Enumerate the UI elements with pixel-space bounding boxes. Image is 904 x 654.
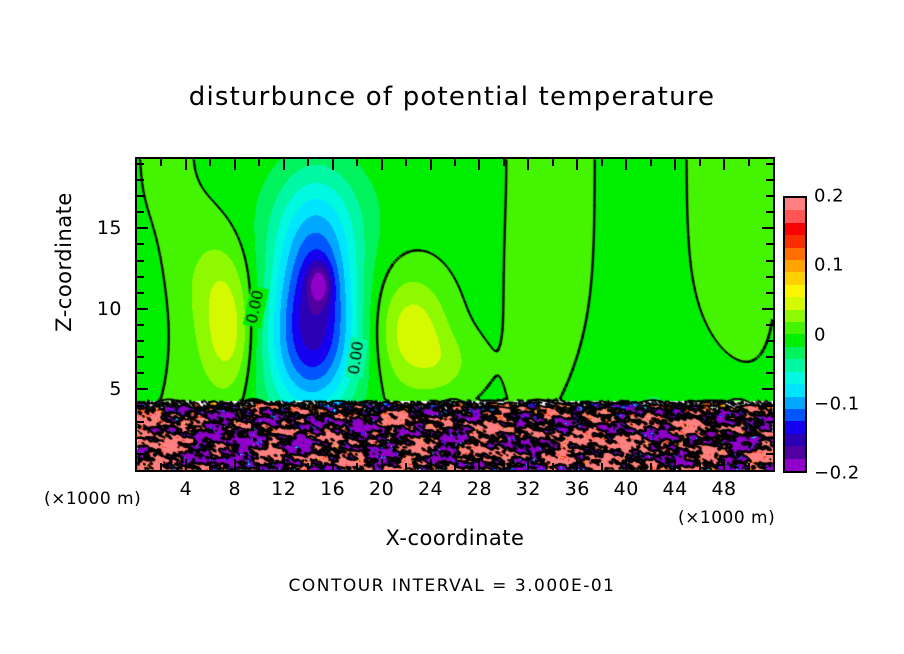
x-tick-top	[454, 159, 456, 166]
x-tick-label: 12	[271, 478, 296, 500]
colorbar-segment	[785, 409, 805, 421]
x-tick-top	[185, 159, 187, 170]
x-tick	[160, 463, 162, 470]
y-tick-right	[762, 227, 773, 229]
x-tick	[381, 459, 383, 470]
y-tick	[137, 308, 148, 310]
x-tick-label: 36	[565, 478, 590, 500]
colorbar-tick-label: 0	[814, 324, 826, 345]
colorbar-segment	[785, 334, 805, 346]
x-tick	[307, 463, 309, 470]
x-tick-label: 44	[663, 478, 688, 500]
y-tick-label: 15	[97, 217, 122, 239]
x-tick-top	[576, 159, 578, 170]
x-unit-label-left: (×1000 m)	[44, 489, 141, 509]
x-tick	[576, 459, 578, 470]
colorbar-segment	[785, 434, 805, 446]
y-tick	[137, 292, 144, 294]
x-tick	[209, 463, 211, 470]
colorbar-segment	[785, 322, 805, 334]
y-tick	[137, 163, 144, 165]
x-tick	[723, 459, 725, 470]
x-tick	[332, 459, 334, 470]
x-axis-title: X-coordinate	[255, 526, 655, 550]
x-tick-label: 8	[229, 478, 242, 500]
colorbar-tick-label: −0.2	[814, 463, 860, 484]
x-tick	[430, 459, 432, 470]
x-tick	[185, 459, 187, 470]
x-tick-label: 28	[467, 478, 492, 500]
x-tick-top	[601, 159, 603, 166]
colorbar-segment	[785, 223, 805, 235]
y-tick-right	[766, 356, 773, 358]
colorbar-tick-label: 0.2	[814, 186, 844, 207]
y-tick	[137, 195, 144, 197]
y-tick-right	[766, 421, 773, 423]
y-tick	[137, 179, 144, 181]
colorbar-tick-label: 0.1	[814, 255, 844, 276]
colorbar-segment	[785, 248, 805, 260]
y-tick-right	[762, 388, 773, 390]
x-tick-top	[650, 159, 652, 166]
contour-interval-caption: CONTOUR INTERVAL = 3.000E-01	[152, 576, 752, 596]
colorbar-segment	[785, 446, 805, 458]
y-tick	[137, 372, 144, 374]
x-tick-label: 24	[418, 478, 443, 500]
colorbar-tick-label: −0.1	[814, 393, 860, 414]
y-tick-label: 10	[97, 298, 122, 320]
x-tick-label: 32	[516, 478, 541, 500]
y-tick	[137, 437, 144, 439]
y-tick	[137, 356, 144, 358]
x-tick-label: 40	[614, 478, 639, 500]
colorbar-segment	[785, 347, 805, 359]
y-tick-right	[766, 163, 773, 165]
colorbar-segment	[785, 198, 805, 210]
colorbar-segment	[785, 421, 805, 433]
x-tick	[601, 463, 603, 470]
x-tick-label: 20	[369, 478, 394, 500]
colorbar-gradient	[783, 196, 807, 473]
x-tick	[356, 463, 358, 470]
x-tick-top	[258, 159, 260, 166]
colorbar-segment	[785, 297, 805, 309]
y-tick	[137, 227, 148, 229]
x-tick-top	[674, 159, 676, 170]
x-tick	[650, 463, 652, 470]
y-tick	[137, 211, 144, 213]
y-tick-right	[766, 260, 773, 262]
colorbar-segment	[785, 359, 805, 371]
plot-area	[135, 157, 775, 472]
y-tick-right	[762, 308, 773, 310]
x-tick	[454, 463, 456, 470]
y-tick-right	[766, 340, 773, 342]
x-tick	[674, 459, 676, 470]
x-tick-top	[430, 159, 432, 170]
y-tick-right	[766, 437, 773, 439]
colorbar-segment	[785, 310, 805, 322]
y-tick-right	[766, 372, 773, 374]
x-tick-top	[332, 159, 334, 170]
y-tick	[137, 260, 144, 262]
y-tick-right	[766, 453, 773, 455]
x-tick-top	[234, 159, 236, 170]
colorbar-segment	[785, 384, 805, 396]
x-unit-label-right: (×1000 m)	[678, 508, 775, 528]
x-tick-top	[381, 159, 383, 170]
y-tick	[137, 324, 144, 326]
x-tick	[699, 463, 701, 470]
x-tick-top	[405, 159, 407, 166]
x-tick-top	[723, 159, 725, 170]
y-tick-right	[766, 195, 773, 197]
y-tick	[137, 405, 144, 407]
x-tick-top	[283, 159, 285, 170]
x-tick	[478, 459, 480, 470]
x-tick-top	[209, 159, 211, 166]
x-tick-top	[552, 159, 554, 166]
y-tick-right	[766, 292, 773, 294]
x-tick-top	[356, 159, 358, 166]
colorbar-segment	[785, 397, 805, 409]
y-tick-right	[766, 405, 773, 407]
colorbar-segment	[785, 459, 805, 471]
x-tick	[503, 463, 505, 470]
x-tick	[748, 463, 750, 470]
y-tick	[137, 453, 144, 455]
x-tick-label: 16	[320, 478, 345, 500]
y-tick	[137, 243, 144, 245]
y-tick	[137, 421, 144, 423]
x-tick	[405, 463, 407, 470]
x-tick	[283, 459, 285, 470]
x-tick	[625, 459, 627, 470]
x-tick-top	[503, 159, 505, 166]
x-tick-top	[527, 159, 529, 170]
colorbar-segment	[785, 285, 805, 297]
y-tick-right	[766, 324, 773, 326]
colorbar-segment	[785, 260, 805, 272]
colorbar-segment	[785, 235, 805, 247]
y-tick-right	[766, 179, 773, 181]
colorbar-segment	[785, 210, 805, 222]
y-tick-right	[766, 276, 773, 278]
y-axis-title: Z-coordinate	[52, 152, 76, 372]
x-tick-top	[160, 159, 162, 166]
x-tick	[258, 463, 260, 470]
y-tick-label: 5	[109, 378, 122, 400]
colorbar-segment	[785, 372, 805, 384]
x-tick	[552, 463, 554, 470]
contour-field	[137, 159, 773, 470]
y-tick	[137, 340, 144, 342]
page-title: disturbunce of potential temperature	[0, 82, 904, 112]
x-tick-top	[307, 159, 309, 166]
y-tick	[137, 388, 148, 390]
y-tick-right	[766, 211, 773, 213]
x-tick-top	[748, 159, 750, 166]
x-tick	[527, 459, 529, 470]
y-tick-right	[766, 243, 773, 245]
colorbar-segment	[785, 272, 805, 284]
colorbar: 0.20.10−0.1−0.2	[783, 196, 807, 473]
x-tick-label: 4	[180, 478, 193, 500]
x-tick-label: 48	[711, 478, 736, 500]
x-tick-top	[699, 159, 701, 166]
x-tick-top	[478, 159, 480, 170]
x-tick-top	[625, 159, 627, 170]
y-tick	[137, 276, 144, 278]
x-tick	[234, 459, 236, 470]
